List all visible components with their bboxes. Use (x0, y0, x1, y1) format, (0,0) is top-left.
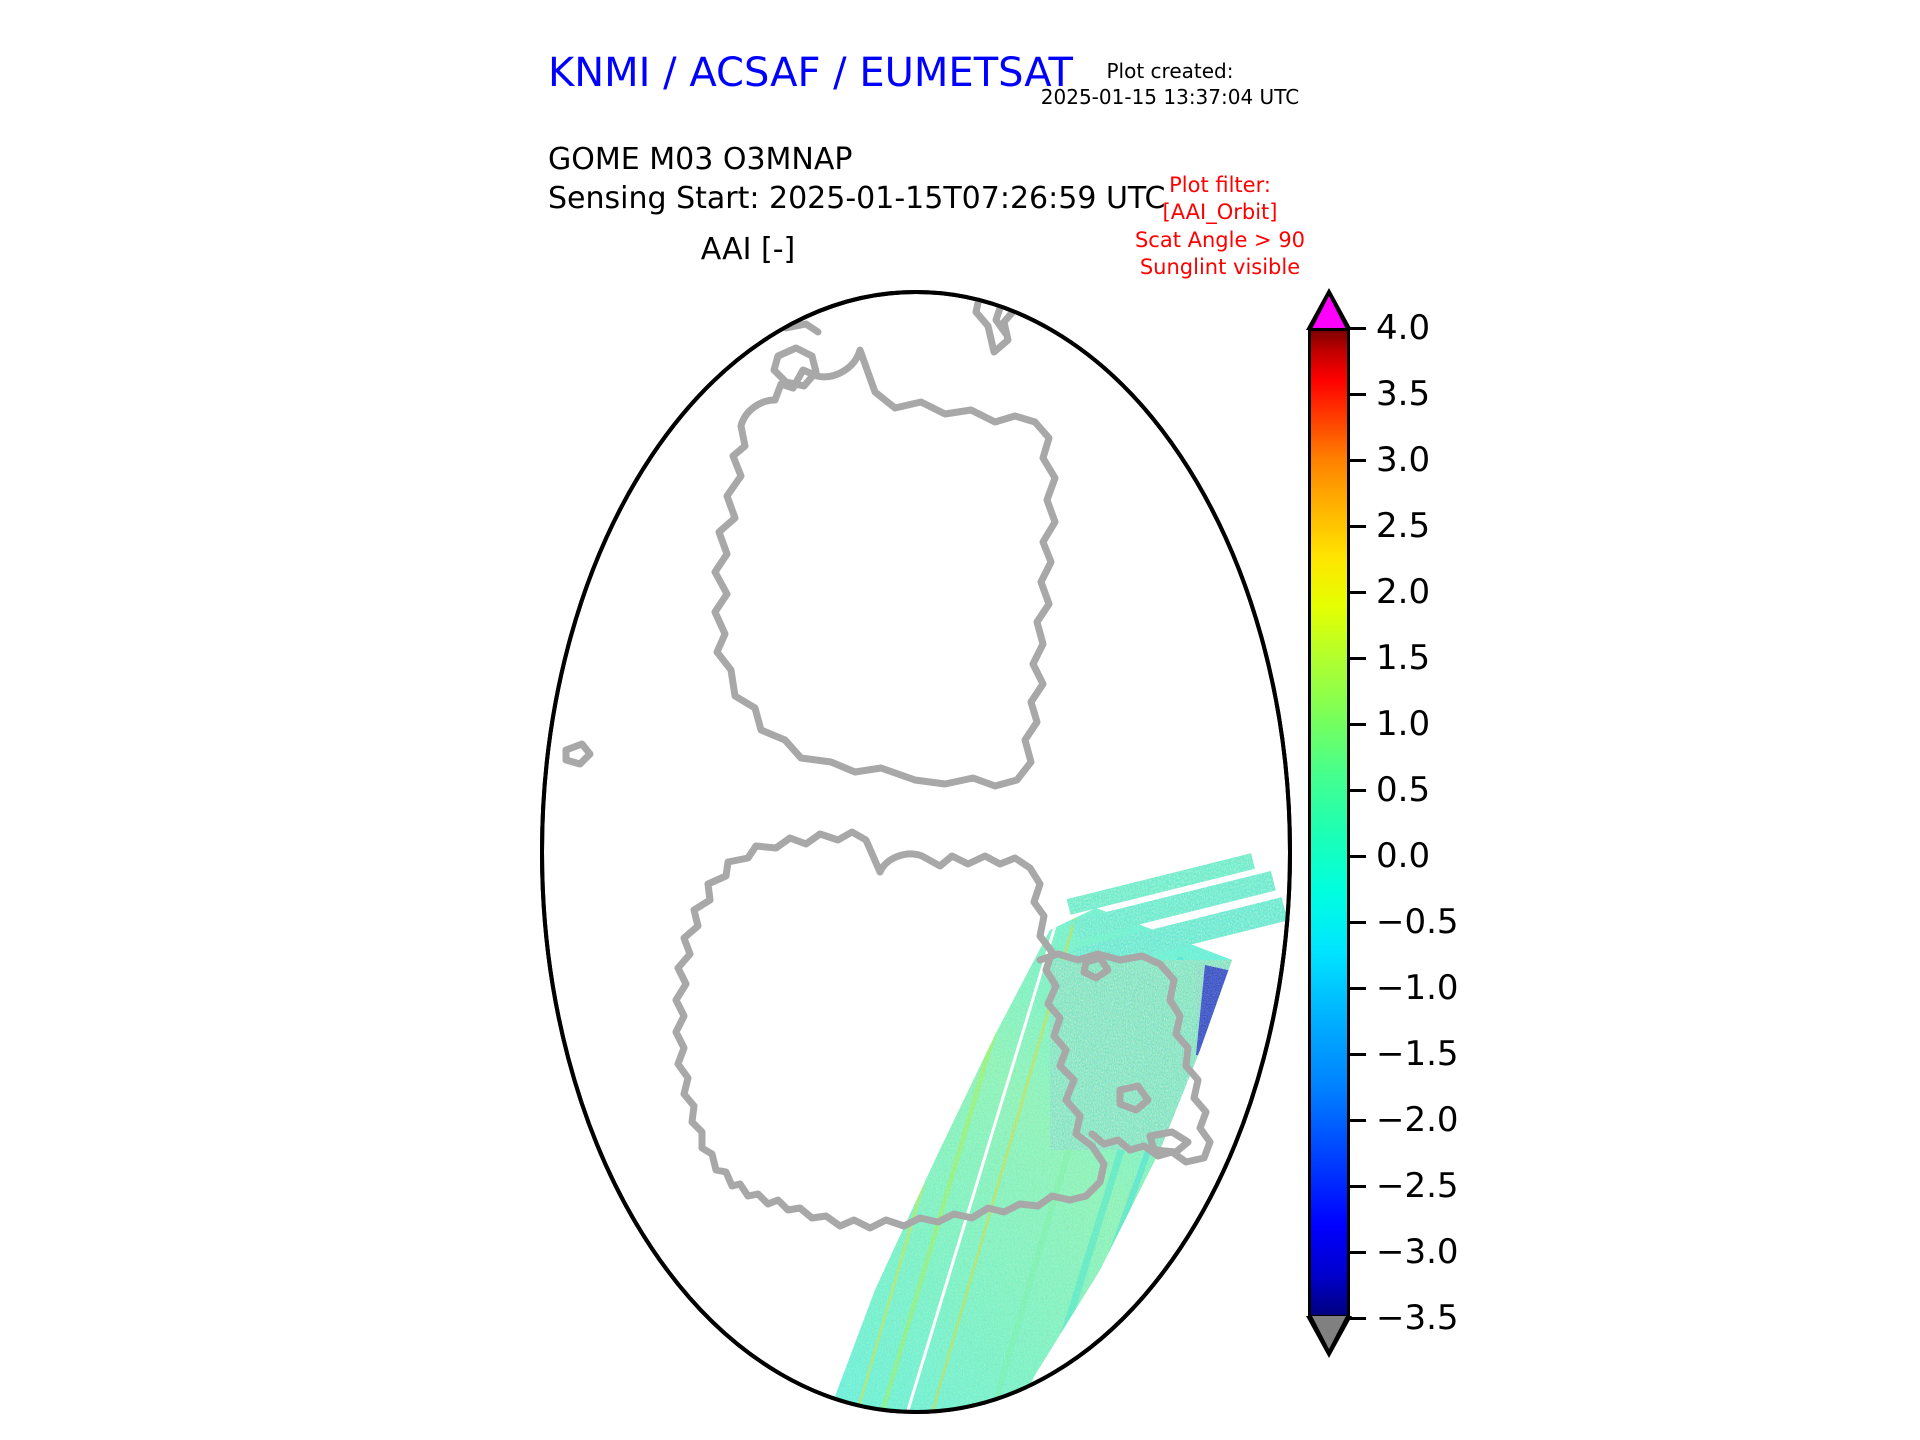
colorbar-under-arrow (1312, 1316, 1346, 1349)
organisation-title: KNMI / ACSAF / EUMETSAT (548, 50, 1073, 96)
colorbar-tick (1350, 789, 1366, 792)
plot-title-line1: GOME M03 O3MNAP (548, 140, 1165, 179)
colorbar-tick (1350, 393, 1366, 396)
colorbar-tick-label: 2.0 (1376, 575, 1430, 609)
plot-title-line2: Sensing Start: 2025-01-15T07:26:59 UTC (548, 179, 1165, 218)
colorbar-tick (1350, 1185, 1366, 1188)
colorbar-tick (1350, 1317, 1366, 1320)
colorbar-tick-label: −2.5 (1376, 1169, 1459, 1203)
colorbar-tick-label: −1.0 (1376, 971, 1459, 1005)
colorbar-tick (1350, 591, 1366, 594)
colorbar-tick-label: −3.5 (1376, 1301, 1459, 1335)
colorbar-tick (1350, 459, 1366, 462)
plot-created-value: 2025-01-15 13:37:04 UTC (1030, 84, 1310, 110)
plot-title-block: GOME M03 O3MNAP Sensing Start: 2025-01-1… (548, 140, 1165, 218)
colorbar-tick-label: 3.0 (1376, 443, 1430, 477)
colorbar-tick (1350, 855, 1366, 858)
polar-map (0, 260, 1330, 1440)
colorbar-tick-label: −3.0 (1376, 1235, 1459, 1269)
colorbar-tick-label: 1.5 (1376, 641, 1430, 675)
colorbar-tick-label: −2.0 (1376, 1103, 1459, 1137)
colorbar-over-arrow (1312, 296, 1346, 329)
colorbar: 4.03.53.02.52.01.51.00.50.0−0.5−1.0−1.5−… (1300, 280, 1580, 1300)
colorbar-tick-label: 1.0 (1376, 707, 1430, 741)
colorbar-tick (1350, 723, 1366, 726)
plot-created-block: Plot created: 2025-01-15 13:37:04 UTC (1030, 58, 1310, 110)
colorbar-tick (1350, 987, 1366, 990)
plot-filter-label: Plot filter: (1090, 172, 1350, 199)
colorbar-tick (1350, 1119, 1366, 1122)
plot-filter-condition: Scat Angle > 90 (1090, 227, 1350, 254)
plot-page: KNMI / ACSAF / EUMETSAT Plot created: 20… (0, 0, 1920, 1440)
colorbar-tick (1350, 525, 1366, 528)
colorbar-gradient (1308, 328, 1350, 1318)
colorbar-tick-label: 2.5 (1376, 509, 1430, 543)
map-panel (0, 260, 1330, 1440)
colorbar-tick (1350, 1251, 1366, 1254)
colorbar-tick (1350, 327, 1366, 330)
colorbar-tick-label: 0.5 (1376, 773, 1430, 807)
colorbar-tick-label: 4.0 (1376, 311, 1430, 345)
colorbar-tick (1350, 1053, 1366, 1056)
colorbar-tick (1350, 657, 1366, 660)
plot-created-label: Plot created: (1107, 59, 1234, 83)
plot-filter-product: [AAI_Orbit] (1090, 199, 1350, 226)
colorbar-tick-label: −1.5 (1376, 1037, 1459, 1071)
colorbar-tick (1350, 921, 1366, 924)
colorbar-tick-label: 0.0 (1376, 839, 1430, 873)
colorbar-tick-label: 3.5 (1376, 377, 1430, 411)
colorbar-tick-label: −0.5 (1376, 905, 1459, 939)
